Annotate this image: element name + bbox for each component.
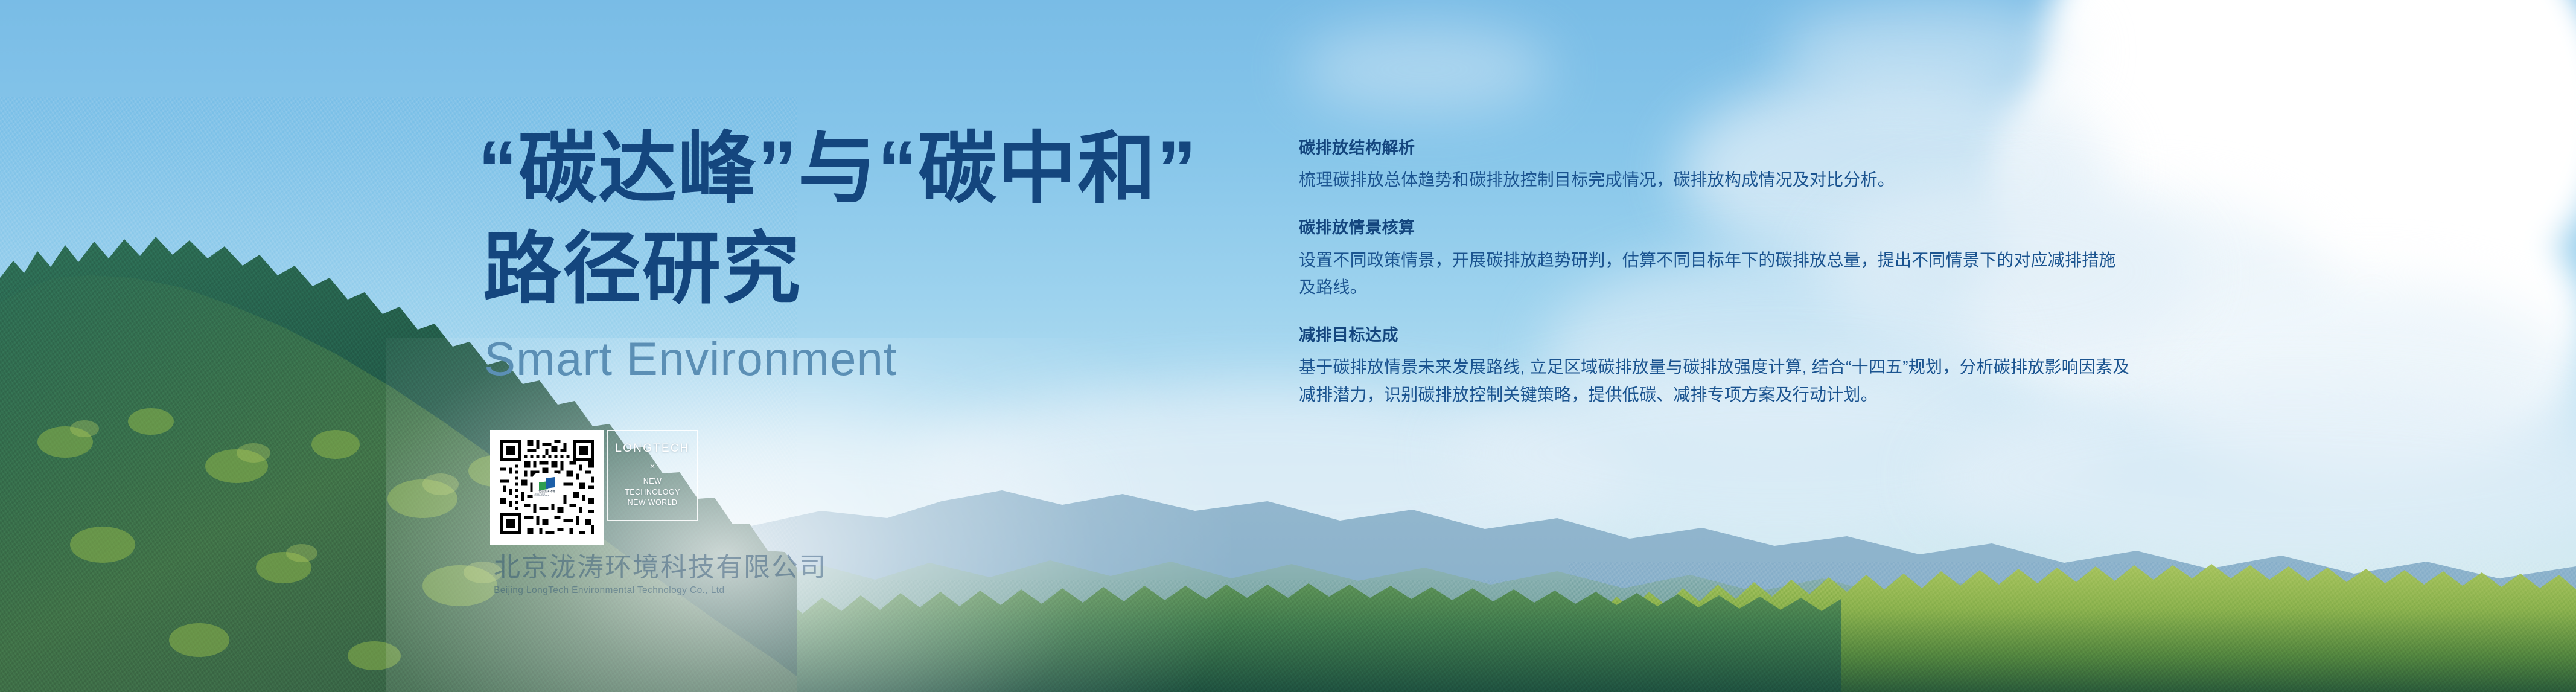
logo-text-en: LONGTECH ENVIRONMENT (534, 493, 560, 497)
partner-separator-icon: × (650, 461, 655, 472)
title-line-1: “碳达峰”与“碳中和” (478, 118, 1190, 219)
forest-highlights-left (0, 386, 543, 692)
info-body-3: 基于碳排放情景未来发展路线, 立足区域碳排放量与碳排放强度计算, 结合“十四五”… (1299, 353, 2132, 408)
info-body-1: 梳理碳排放总体趋势和碳排放控制目标完成情况，碳排放构成情况及对比分析。 (1299, 166, 2132, 193)
qr-and-partner-row: 北京泷涛环境 LONGTECH ENVIRONMENT LONGTECH × N… (490, 430, 698, 545)
tagline-line-1: NEW (625, 476, 680, 487)
partner-card: LONGTECH × NEW TECHNOLOGY NEW WORLD (607, 430, 698, 521)
qr-card[interactable]: 北京泷涛环境 LONGTECH ENVIRONMENT (490, 430, 604, 545)
forest-canopy-mid (694, 580, 1841, 692)
longtech-logo-mark (539, 478, 555, 490)
qr-code-icon[interactable]: 北京泷涛环境 LONGTECH ENVIRONMENT (497, 437, 597, 537)
info-heading-1: 碳排放结构解析 (1299, 138, 2132, 159)
banner-stage: “碳达峰”与“碳中和” 路径研究 Smart Environment (0, 0, 2576, 692)
info-body-2: 设置不同政策情景，开展碳排放趋势研判，估算不同目标年下的碳排放总量，提出不同情景… (1299, 246, 2132, 301)
info-section-3: 减排目标达成 基于碳排放情景未来发展路线, 立足区域碳排放量与碳排放强度计算, … (1299, 325, 2132, 408)
partner-name: LONGTECH (615, 442, 689, 455)
tagline-line-3: NEW WORLD (625, 498, 680, 508)
title-line-2: 路径研究 (478, 219, 1190, 319)
info-section-1: 碳排放结构解析 梳理碳排放总体趋势和碳排放控制目标完成情况，碳排放构成情况及对比… (1299, 138, 2132, 193)
partner-tagline: NEW TECHNOLOGY NEW WORLD (625, 476, 680, 508)
info-section-2: 碳排放情景核算 设置不同政策情景，开展碳排放趋势研判，估算不同目标年下的碳排放总… (1299, 217, 2132, 301)
title-block: “碳达峰”与“碳中和” 路径研究 Smart Environment (478, 118, 1190, 382)
tagline-line-2: TECHNOLOGY (625, 487, 680, 498)
info-heading-2: 碳排放情景核算 (1299, 217, 2132, 239)
qr-center-logo: 北京泷涛环境 LONGTECH ENVIRONMENT (534, 474, 560, 501)
subtitle: Smart Environment (478, 335, 1190, 382)
info-heading-3: 减排目标达成 (1299, 325, 2132, 346)
info-column: 碳排放结构解析 梳理碳排放总体趋势和碳排放控制目标完成情况，碳排放构成情况及对比… (1299, 138, 2132, 408)
